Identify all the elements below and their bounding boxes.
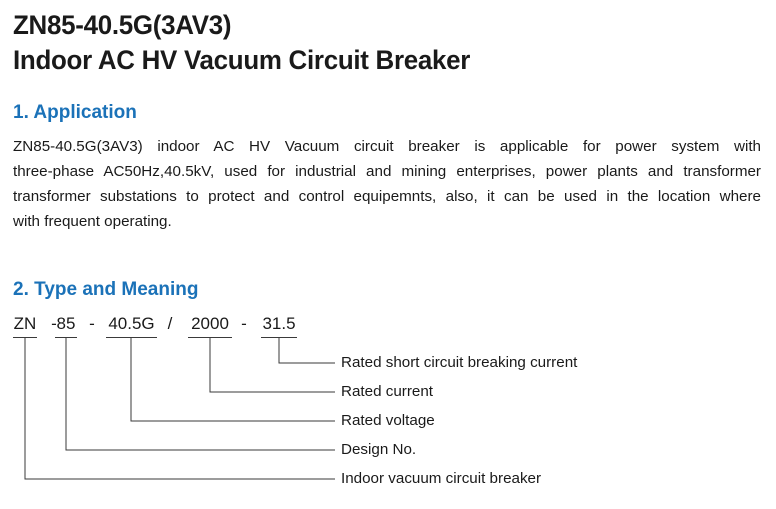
title-line-1: ZN85-40.5G(3AV3) [13,8,723,43]
callout-label-rated-short-circuit-breaking-current: Rated short circuit breaking current [341,353,577,373]
code-token-zn: ZN [13,312,37,338]
title-line-2: Indoor AC HV Vacuum Circuit Breaker [13,43,723,78]
leader-line-zn [25,338,335,479]
code-token-315: 31.5 [261,312,297,338]
application-paragraph: ZN85-40.5G(3AV3) indoor AC HV Vacuum cir… [13,134,761,234]
callout-label-rated-voltage: Rated voltage [341,411,435,431]
paragraph-line-3: transformer substations to protect and c… [13,184,761,209]
paragraph-line-4: with frequent operating. [13,209,761,234]
section-heading-application: 1. Application [13,102,137,124]
code-separator-dash-1: - [85,312,99,336]
callout-label-design-no: Design No. [341,440,416,460]
leader-line-85 [66,338,335,450]
code-token-405g: 40.5G [106,312,157,338]
paragraph-line-2: three-phase AC50Hz,40.5kV, used for indu… [13,159,761,184]
section-heading-type-and-meaning: 2. Type and Meaning [13,279,198,301]
datasheet-page: ZN85-40.5G(3AV3) Indoor AC HV Vacuum Cir… [0,0,776,509]
callout-label-indoor-vacuum-circuit-breaker: Indoor vacuum circuit breaker [341,469,541,489]
callout-label-rated-current: Rated current [341,382,433,402]
leader-line-315 [279,338,335,363]
code-token-85: 85 [55,312,77,338]
code-separator-slash: / [163,312,177,336]
paragraph-line-1: ZN85-40.5G(3AV3) indoor AC HV Vacuum cir… [13,134,761,159]
page-title: ZN85-40.5G(3AV3) Indoor AC HV Vacuum Cir… [13,8,753,78]
code-token-2000: 2000 [188,312,232,338]
code-separator-dash-2: - [237,312,251,336]
leader-line-405g [131,338,335,421]
leader-line-2000 [210,338,335,392]
